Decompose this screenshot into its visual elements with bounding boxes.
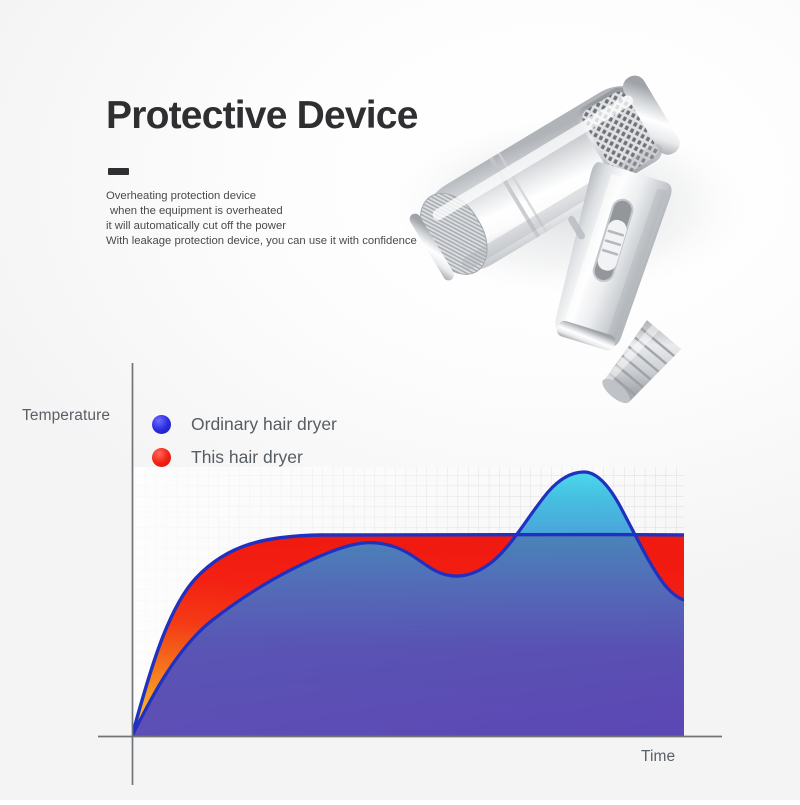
legend-item-this: This hair dryer xyxy=(152,441,337,474)
legend-dot-red-icon xyxy=(152,448,171,467)
description-text: Overheating protection device when the e… xyxy=(106,189,536,249)
chart-plot xyxy=(0,340,800,800)
legend-dot-blue-icon xyxy=(152,415,171,434)
chart-legend: Ordinary hair dryer This hair dryer xyxy=(152,408,337,474)
x-axis-label: Time xyxy=(641,748,675,766)
legend-label-this: This hair dryer xyxy=(191,447,303,468)
description-line-3: it will automatically cut off the power xyxy=(106,219,536,234)
product-infographic: Protective Device Overheating protection… xyxy=(0,0,800,800)
temperature-time-chart: Temperature Time Ordinary hair dryer Thi… xyxy=(0,340,800,800)
description-line-2: when the equipment is overheated xyxy=(106,204,536,219)
legend-item-ordinary: Ordinary hair dryer xyxy=(152,408,337,441)
description-line-4: With leakage protection device, you can … xyxy=(106,234,536,249)
headline-block: Protective Device Overheating protection… xyxy=(106,96,536,249)
legend-label-ordinary: Ordinary hair dryer xyxy=(191,414,337,435)
description-line-1: Overheating protection device xyxy=(106,189,536,204)
y-axis-label: Temperature xyxy=(22,407,110,425)
page-title: Protective Device xyxy=(106,96,536,137)
title-accent-rule xyxy=(108,168,129,175)
